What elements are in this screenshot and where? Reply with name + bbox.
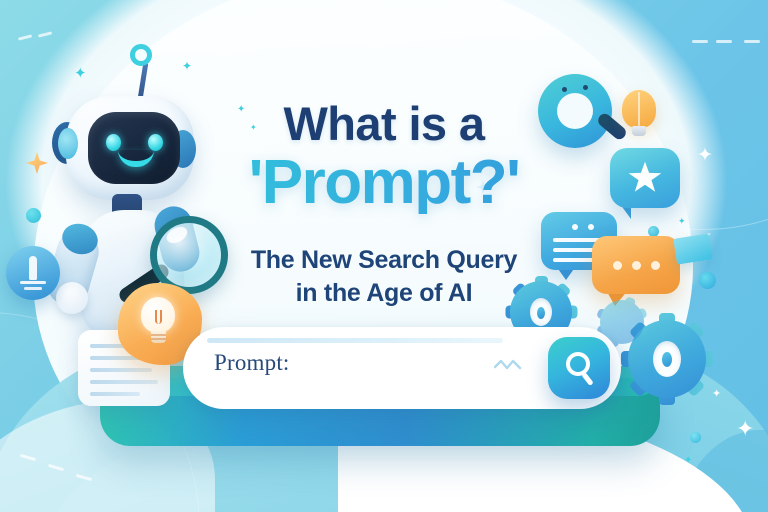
decor-dot bbox=[690, 432, 701, 443]
page-title-line2: 'Prompt?' bbox=[0, 152, 768, 214]
wave-squiggle-icon bbox=[494, 358, 522, 372]
decor-dash bbox=[716, 40, 732, 43]
page-title-line1: What is a bbox=[0, 96, 768, 151]
page-subtitle-line2: in the Age of AI bbox=[0, 277, 768, 310]
robot-antenna-icon bbox=[130, 44, 152, 66]
sparkle-icon: ✦ bbox=[684, 456, 692, 466]
bubble-dot bbox=[588, 224, 594, 230]
magnifier-eye bbox=[562, 87, 567, 92]
sparkle-icon: ✦ bbox=[712, 389, 721, 400]
bubble-dot bbox=[572, 224, 578, 230]
document-line bbox=[90, 368, 152, 372]
search-input[interactable]: Prompt: bbox=[214, 350, 290, 376]
document-line bbox=[90, 392, 140, 396]
search-icon bbox=[566, 352, 590, 376]
sparkle-icon: ✦ bbox=[736, 418, 754, 440]
sparkle-icon: ✦ bbox=[678, 217, 686, 226]
decor-dash bbox=[692, 40, 708, 43]
search-accent-line bbox=[207, 338, 503, 343]
document-line bbox=[90, 380, 158, 384]
magnifier-eye bbox=[583, 85, 588, 90]
lightbulb-filament bbox=[155, 310, 162, 324]
page-subtitle: The New Search Query in the Age of AI bbox=[0, 244, 768, 311]
decor-dash bbox=[744, 40, 760, 43]
page-subtitle-line1: The New Search Query bbox=[251, 246, 517, 274]
lightbulb-base bbox=[151, 331, 166, 343]
banner-illustration: ✦ ✦ ✦ ✦ ✦ ✦ ✦ ✦ ✦ ✦ bbox=[0, 0, 768, 512]
